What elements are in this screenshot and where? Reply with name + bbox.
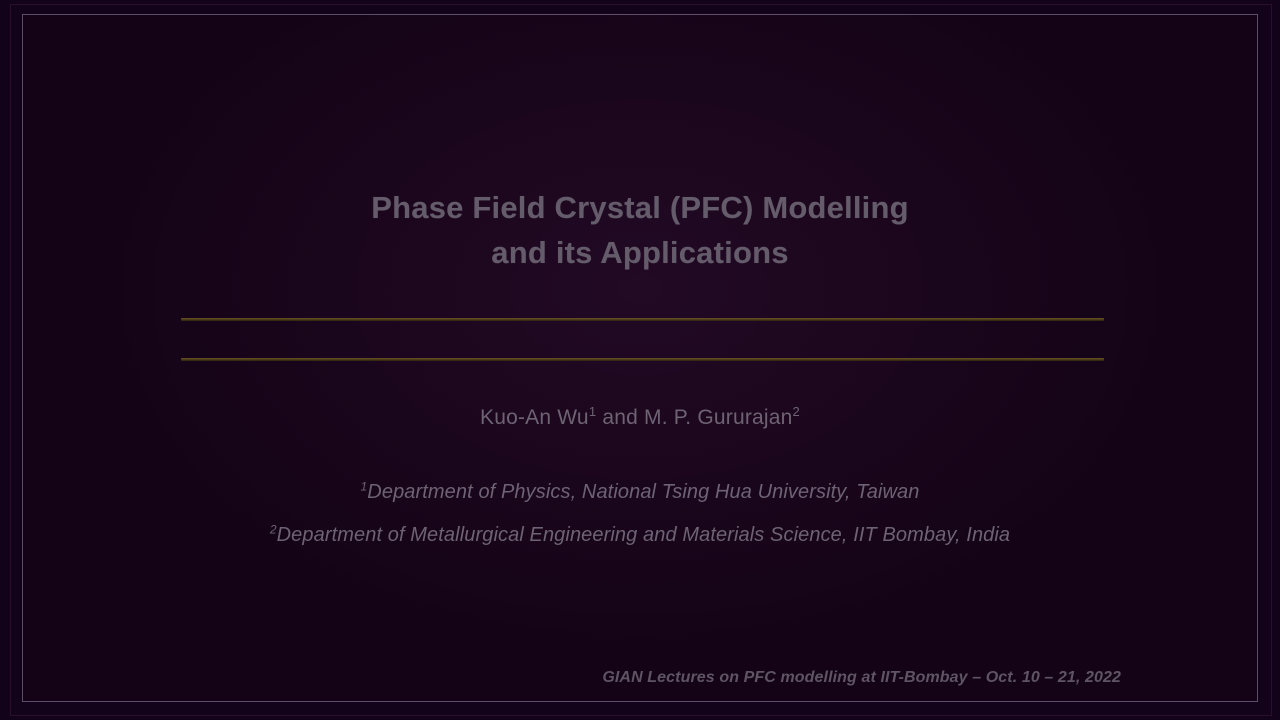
author-line: Kuo-An Wu1 and M. P. Gururajan2 <box>23 406 1257 430</box>
decorative-rule-bottom <box>181 358 1104 361</box>
author-conjunction: and <box>596 406 644 429</box>
author-affiliation-marker-2: 2 <box>793 404 800 419</box>
affiliation-line-2: 2Department of Metallurgical Engineering… <box>23 524 1257 547</box>
slide-title-line-2: and its Applications <box>491 235 788 270</box>
slide-title-line-1: Phase Field Crystal (PFC) Modelling <box>371 190 909 225</box>
affiliation-line-1: 1Department of Physics, National Tsing H… <box>23 481 1257 504</box>
author-name-second: M. P. Gururajan <box>644 406 793 429</box>
slide-title: Phase Field Crystal (PFC) Modelling and … <box>23 185 1257 275</box>
affiliation-text-1: Department of Physics, National Tsing Hu… <box>367 481 919 503</box>
affiliation-marker-2: 2 <box>270 522 277 536</box>
slide-content: Phase Field Crystal (PFC) Modelling and … <box>23 15 1257 701</box>
author-name-first: Kuo-An Wu <box>480 406 589 429</box>
affiliation-text-2: Department of Metallurgical Engineering … <box>277 524 1011 546</box>
presentation-viewer: Phase Field Crystal (PFC) Modelling and … <box>0 0 1280 720</box>
decorative-rule-top <box>181 318 1104 321</box>
slide-canvas: Phase Field Crystal (PFC) Modelling and … <box>22 14 1258 702</box>
slide-footer: GIAN Lectures on PFC modelling at IIT-Bo… <box>602 669 1121 687</box>
